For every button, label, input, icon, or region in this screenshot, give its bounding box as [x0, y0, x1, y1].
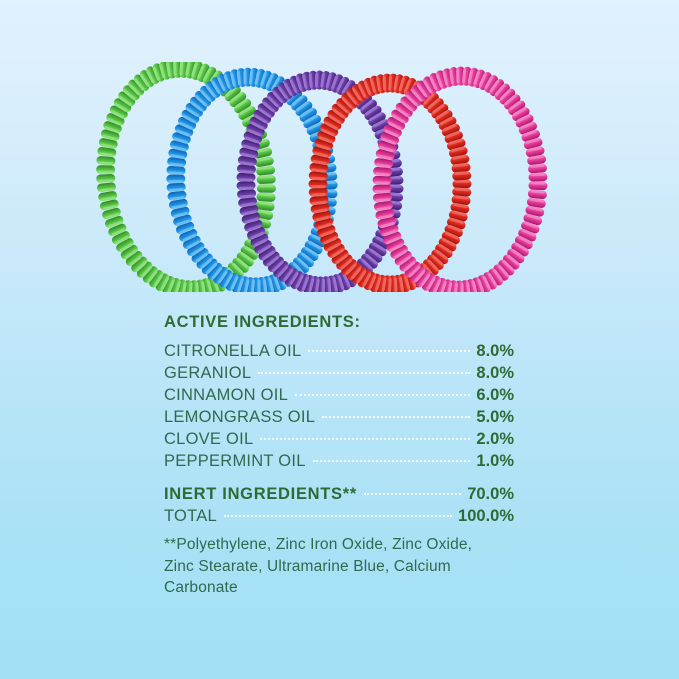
inert-ingredients-value: 70.0%	[467, 484, 514, 505]
coil-highlight	[455, 181, 469, 183]
ingredient-row: CITRONELLA OIL8.0%	[164, 341, 514, 362]
total-label: TOTAL	[164, 506, 217, 527]
leader-dots	[308, 350, 470, 352]
coil-highlight	[244, 70, 246, 84]
coil-segment	[166, 166, 185, 175]
coil-segment	[166, 182, 186, 192]
coil-highlight	[259, 185, 273, 187]
ingredient-row: LEMONGRASS OIL5.0%	[164, 407, 514, 428]
coil-highlight	[531, 174, 545, 176]
coil-segment	[452, 171, 471, 181]
coil-highlight	[239, 178, 253, 180]
coil-segment	[96, 174, 115, 183]
active-ingredients-heading: ACTIVE INGREDIENTS:	[164, 313, 514, 332]
coil-segment	[372, 176, 391, 185]
leader-dots	[364, 493, 461, 495]
inert-ingredients-label: INERT INGREDIENTS**	[164, 484, 357, 505]
ingredient-name: PEPPERMINT OIL	[164, 451, 306, 472]
ingredient-value: 5.0%	[476, 407, 514, 428]
coil-highlight	[375, 190, 389, 192]
list-spacer	[164, 473, 514, 484]
ingredient-name: CLOVE OIL	[164, 429, 253, 450]
coil-segment	[528, 164, 548, 174]
ingredient-value: 2.0%	[476, 429, 514, 450]
ingredient-name: GERANIOL	[164, 363, 251, 384]
ingredient-row: PEPPERMINT OIL1.0%	[164, 451, 514, 472]
coil-segment	[96, 156, 116, 166]
ingredient-name: CINNAMON OIL	[164, 385, 288, 406]
coil-bracelets-photo	[0, 62, 679, 292]
inert-ingredients-footnote: **Polyethylene, Zinc Iron Oxide, Zinc Ox…	[164, 534, 494, 599]
ingredient-row: CINNAMON OIL6.0%	[164, 385, 514, 406]
ingredient-row: CLOVE OIL2.0%	[164, 429, 514, 450]
ingredient-value: 8.0%	[476, 341, 514, 362]
active-ingredients-list: CITRONELLA OIL8.0%GERANIOL8.0%CINNAMON O…	[164, 341, 514, 472]
coil-segment	[528, 181, 547, 190]
ingredient-value: 8.0%	[476, 363, 514, 384]
coil-highlight	[257, 280, 259, 292]
ingredients-panel: ACTIVE INGREDIENTS: CITRONELLA OIL8.0%GE…	[164, 313, 514, 599]
coil-segment	[236, 181, 255, 190]
total-row: TOTAL 100.0%	[164, 506, 514, 527]
coil-segment	[309, 187, 328, 197]
leader-dots	[322, 416, 470, 418]
leader-dots	[313, 460, 471, 462]
total-value: 100.0%	[458, 506, 514, 527]
coil-highlight	[169, 180, 183, 182]
coil-highlight	[322, 279, 324, 292]
coil-highlight	[311, 185, 325, 187]
ingredient-name: LEMONGRASS OIL	[164, 407, 315, 428]
green-bracelet	[84, 62, 287, 292]
coil-highlight	[99, 171, 113, 173]
leader-dots	[295, 394, 470, 396]
coil-segment	[97, 182, 117, 192]
ingredient-name: CITRONELLA OIL	[164, 341, 301, 362]
product-info-card: ACTIVE INGREDIENTS: CITRONELLA OIL8.0%GE…	[0, 0, 679, 679]
ingredient-value: 6.0%	[476, 385, 514, 406]
leader-dots	[260, 438, 470, 440]
coil-segment	[257, 175, 276, 184]
coil-highlight	[316, 73, 318, 87]
coil-highlight	[457, 69, 459, 83]
coil-segment	[256, 165, 276, 175]
coil-highlight	[460, 283, 462, 292]
inert-ingredients-row: INERT INGREDIENTS** 70.0%	[164, 484, 514, 505]
leader-dots	[258, 372, 470, 374]
ingredient-value: 1.0%	[476, 451, 514, 472]
leader-dots	[224, 515, 452, 517]
ingredient-row: GERANIOL8.0%	[164, 363, 514, 384]
coil-segment	[256, 192, 276, 202]
